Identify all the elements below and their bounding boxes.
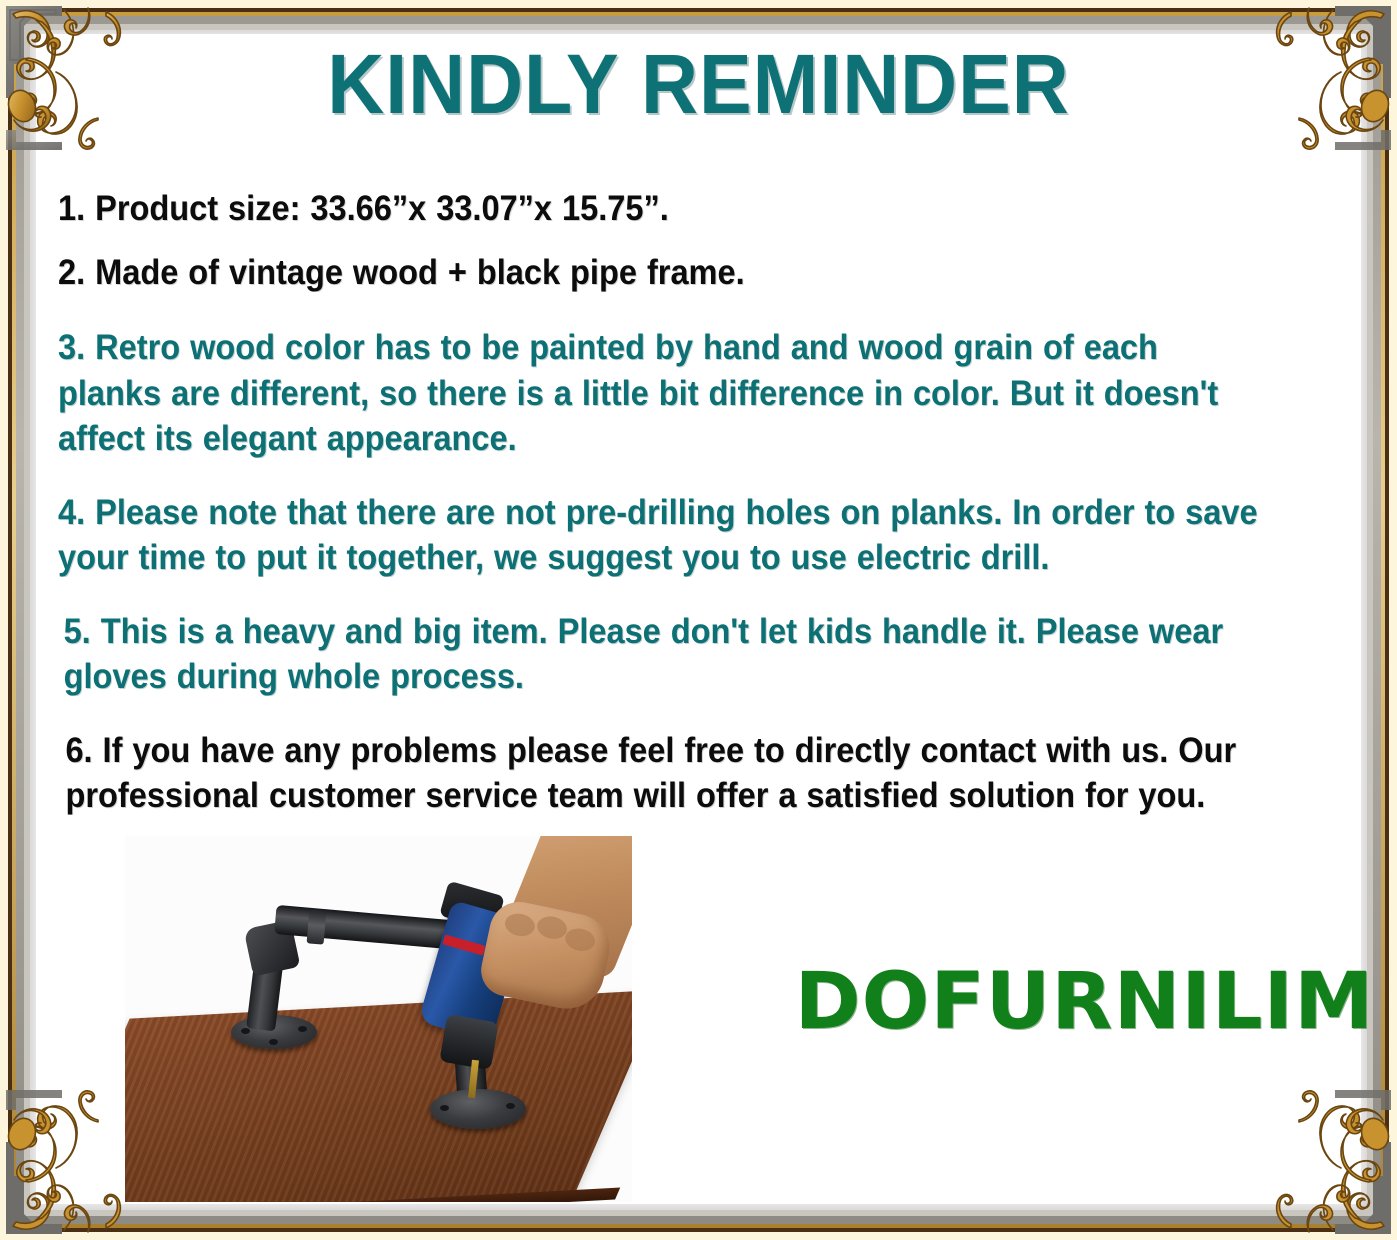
knuckle <box>563 926 597 954</box>
list-item: 6. If you have any problems please feel … <box>58 728 1259 819</box>
brand-logo: DOFURNILIM <box>795 963 1346 1041</box>
flange-hole <box>506 1103 515 1109</box>
list-item: 5. This is a heavy and big item. Please … <box>58 609 1259 700</box>
page-title: KINDLY REMINDER <box>42 42 1355 126</box>
flange-hole <box>298 1026 307 1032</box>
knuckle <box>535 914 569 942</box>
list-item: 2. Made of vintage wood + black pipe fra… <box>58 250 1259 296</box>
list-item: 1. Product size: 33.66”x 33.07”x 15.75”. <box>58 186 1259 232</box>
assembly-photo <box>125 836 632 1202</box>
list-item: 3. Retro wood color has to be painted by… <box>58 325 1259 462</box>
kindly-reminder-poster: KINDLY REMINDER 1. Product size: 33.66”x… <box>0 0 1397 1240</box>
drill-chuck <box>439 1014 499 1070</box>
flange-hole <box>241 1028 250 1034</box>
flange-hole <box>269 1039 278 1045</box>
pipe-flange-right <box>430 1089 526 1129</box>
flange-hole <box>440 1105 449 1111</box>
reminder-list: 1. Product size: 33.66”x 33.07”x 15.75”.… <box>58 186 1349 835</box>
knuckle <box>503 911 537 939</box>
pipe-collar <box>307 909 327 944</box>
list-item: 4. Please note that there are not pre-dr… <box>58 490 1259 581</box>
wooden-plank <box>125 990 632 1202</box>
